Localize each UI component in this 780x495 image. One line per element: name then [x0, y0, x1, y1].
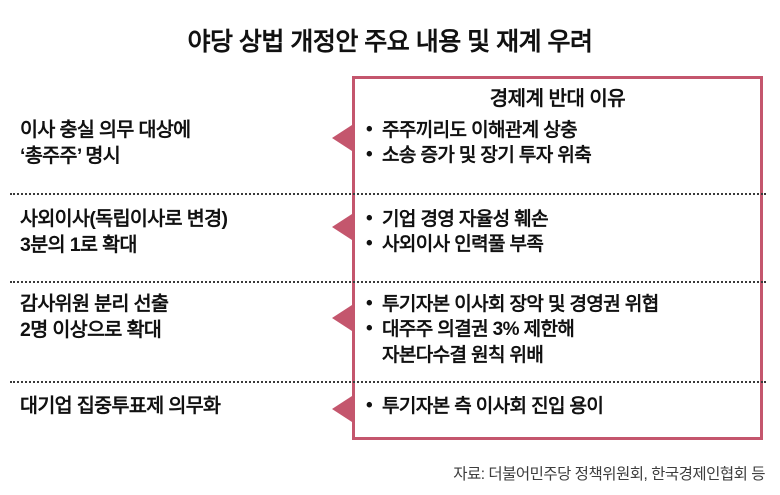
- list-item: 기업 경영 자율성 훼손: [366, 207, 758, 232]
- row-2-measure: 사외이사(독립이사로 변경) 3분의 1로 확대: [20, 207, 330, 258]
- row-3-bullet-1-line-1: 투기자본 이사회 장악 및 경영권 위협: [382, 292, 758, 317]
- reason-box-header: 경제계 반대 이유: [352, 82, 763, 111]
- row-1-measure-line-2: ‘총주주’ 명시: [20, 144, 330, 170]
- row-1-bullet-2-line-1: 소송 증가 및 장기 투자 위축: [382, 143, 758, 168]
- row-3-pointer-arrow-icon: [332, 305, 352, 331]
- row-2-bullet-1-line-1: 기업 경영 자율성 훼손: [382, 207, 758, 232]
- row-4-measure-line-1: 대기업 집중투표제 의무화: [20, 394, 330, 420]
- row-1-pointer-arrow-icon: [332, 125, 352, 151]
- row-3-measure-line-2: 2명 이상으로 확대: [20, 318, 330, 344]
- row-4-bullet-1-line-1: 투기자본 측 이사회 진입 용이: [382, 394, 758, 419]
- row-3-measure-line-1: 감사위원 분리 선출: [20, 292, 330, 318]
- row-2-measure-line-1: 사외이사(독립이사로 변경): [20, 207, 330, 233]
- row-3-bullet-2-line-2: 자본다수결 원칙 위배: [382, 343, 758, 368]
- infographic-canvas: 야당 상법 개정안 주요 내용 및 재계 우려 경제계 반대 이유 이사 충실 …: [0, 0, 780, 495]
- list-item: 투기자본 측 이사회 진입 용이: [366, 394, 758, 419]
- list-item: 주주끼리도 이해관계 상충: [366, 118, 758, 143]
- row-2-reasons: 기업 경영 자율성 훼손 사외이사 인력풀 부족: [366, 207, 758, 258]
- source-note: 자료: 더불어민주당 정책위원회, 한국경제인협회 등: [453, 462, 765, 484]
- list-item: 대주주 의결권 3% 제한해 자본다수결 원칙 위배: [366, 317, 758, 368]
- row-3-measure: 감사위원 분리 선출 2명 이상으로 확대: [20, 292, 330, 343]
- row-divider-2: [10, 281, 766, 283]
- page-title: 야당 상법 개정안 주요 내용 및 재계 우려: [0, 22, 780, 58]
- row-2-bullet-2-line-1: 사외이사 인력풀 부족: [382, 232, 758, 257]
- row-2-measure-line-2: 3분의 1로 확대: [20, 233, 330, 259]
- row-divider-1: [10, 193, 766, 195]
- list-item: 사외이사 인력풀 부족: [366, 232, 758, 257]
- row-3-reasons: 투기자본 이사회 장악 및 경영권 위협 대주주 의결권 3% 제한해 자본다수…: [366, 292, 758, 368]
- row-1-measure-line-1: 이사 충실 의무 대상에: [20, 118, 330, 144]
- row-1-measure: 이사 충실 의무 대상에 ‘총주주’ 명시: [20, 118, 330, 169]
- row-2-pointer-arrow-icon: [332, 214, 352, 240]
- row-1-bullet-1-line-1: 주주끼리도 이해관계 상충: [382, 118, 758, 143]
- row-4-measure: 대기업 집중투표제 의무화: [20, 394, 330, 420]
- row-4-reasons: 투기자본 측 이사회 진입 용이: [366, 394, 758, 419]
- row-4-pointer-arrow-icon: [332, 396, 352, 422]
- list-item: 투기자본 이사회 장악 및 경영권 위협: [366, 292, 758, 317]
- list-item: 소송 증가 및 장기 투자 위축: [366, 143, 758, 168]
- row-3-bullet-2-line-1: 대주주 의결권 3% 제한해: [382, 317, 758, 342]
- row-1-reasons: 주주끼리도 이해관계 상충 소송 증가 및 장기 투자 위축: [366, 118, 758, 169]
- row-divider-3: [10, 381, 766, 383]
